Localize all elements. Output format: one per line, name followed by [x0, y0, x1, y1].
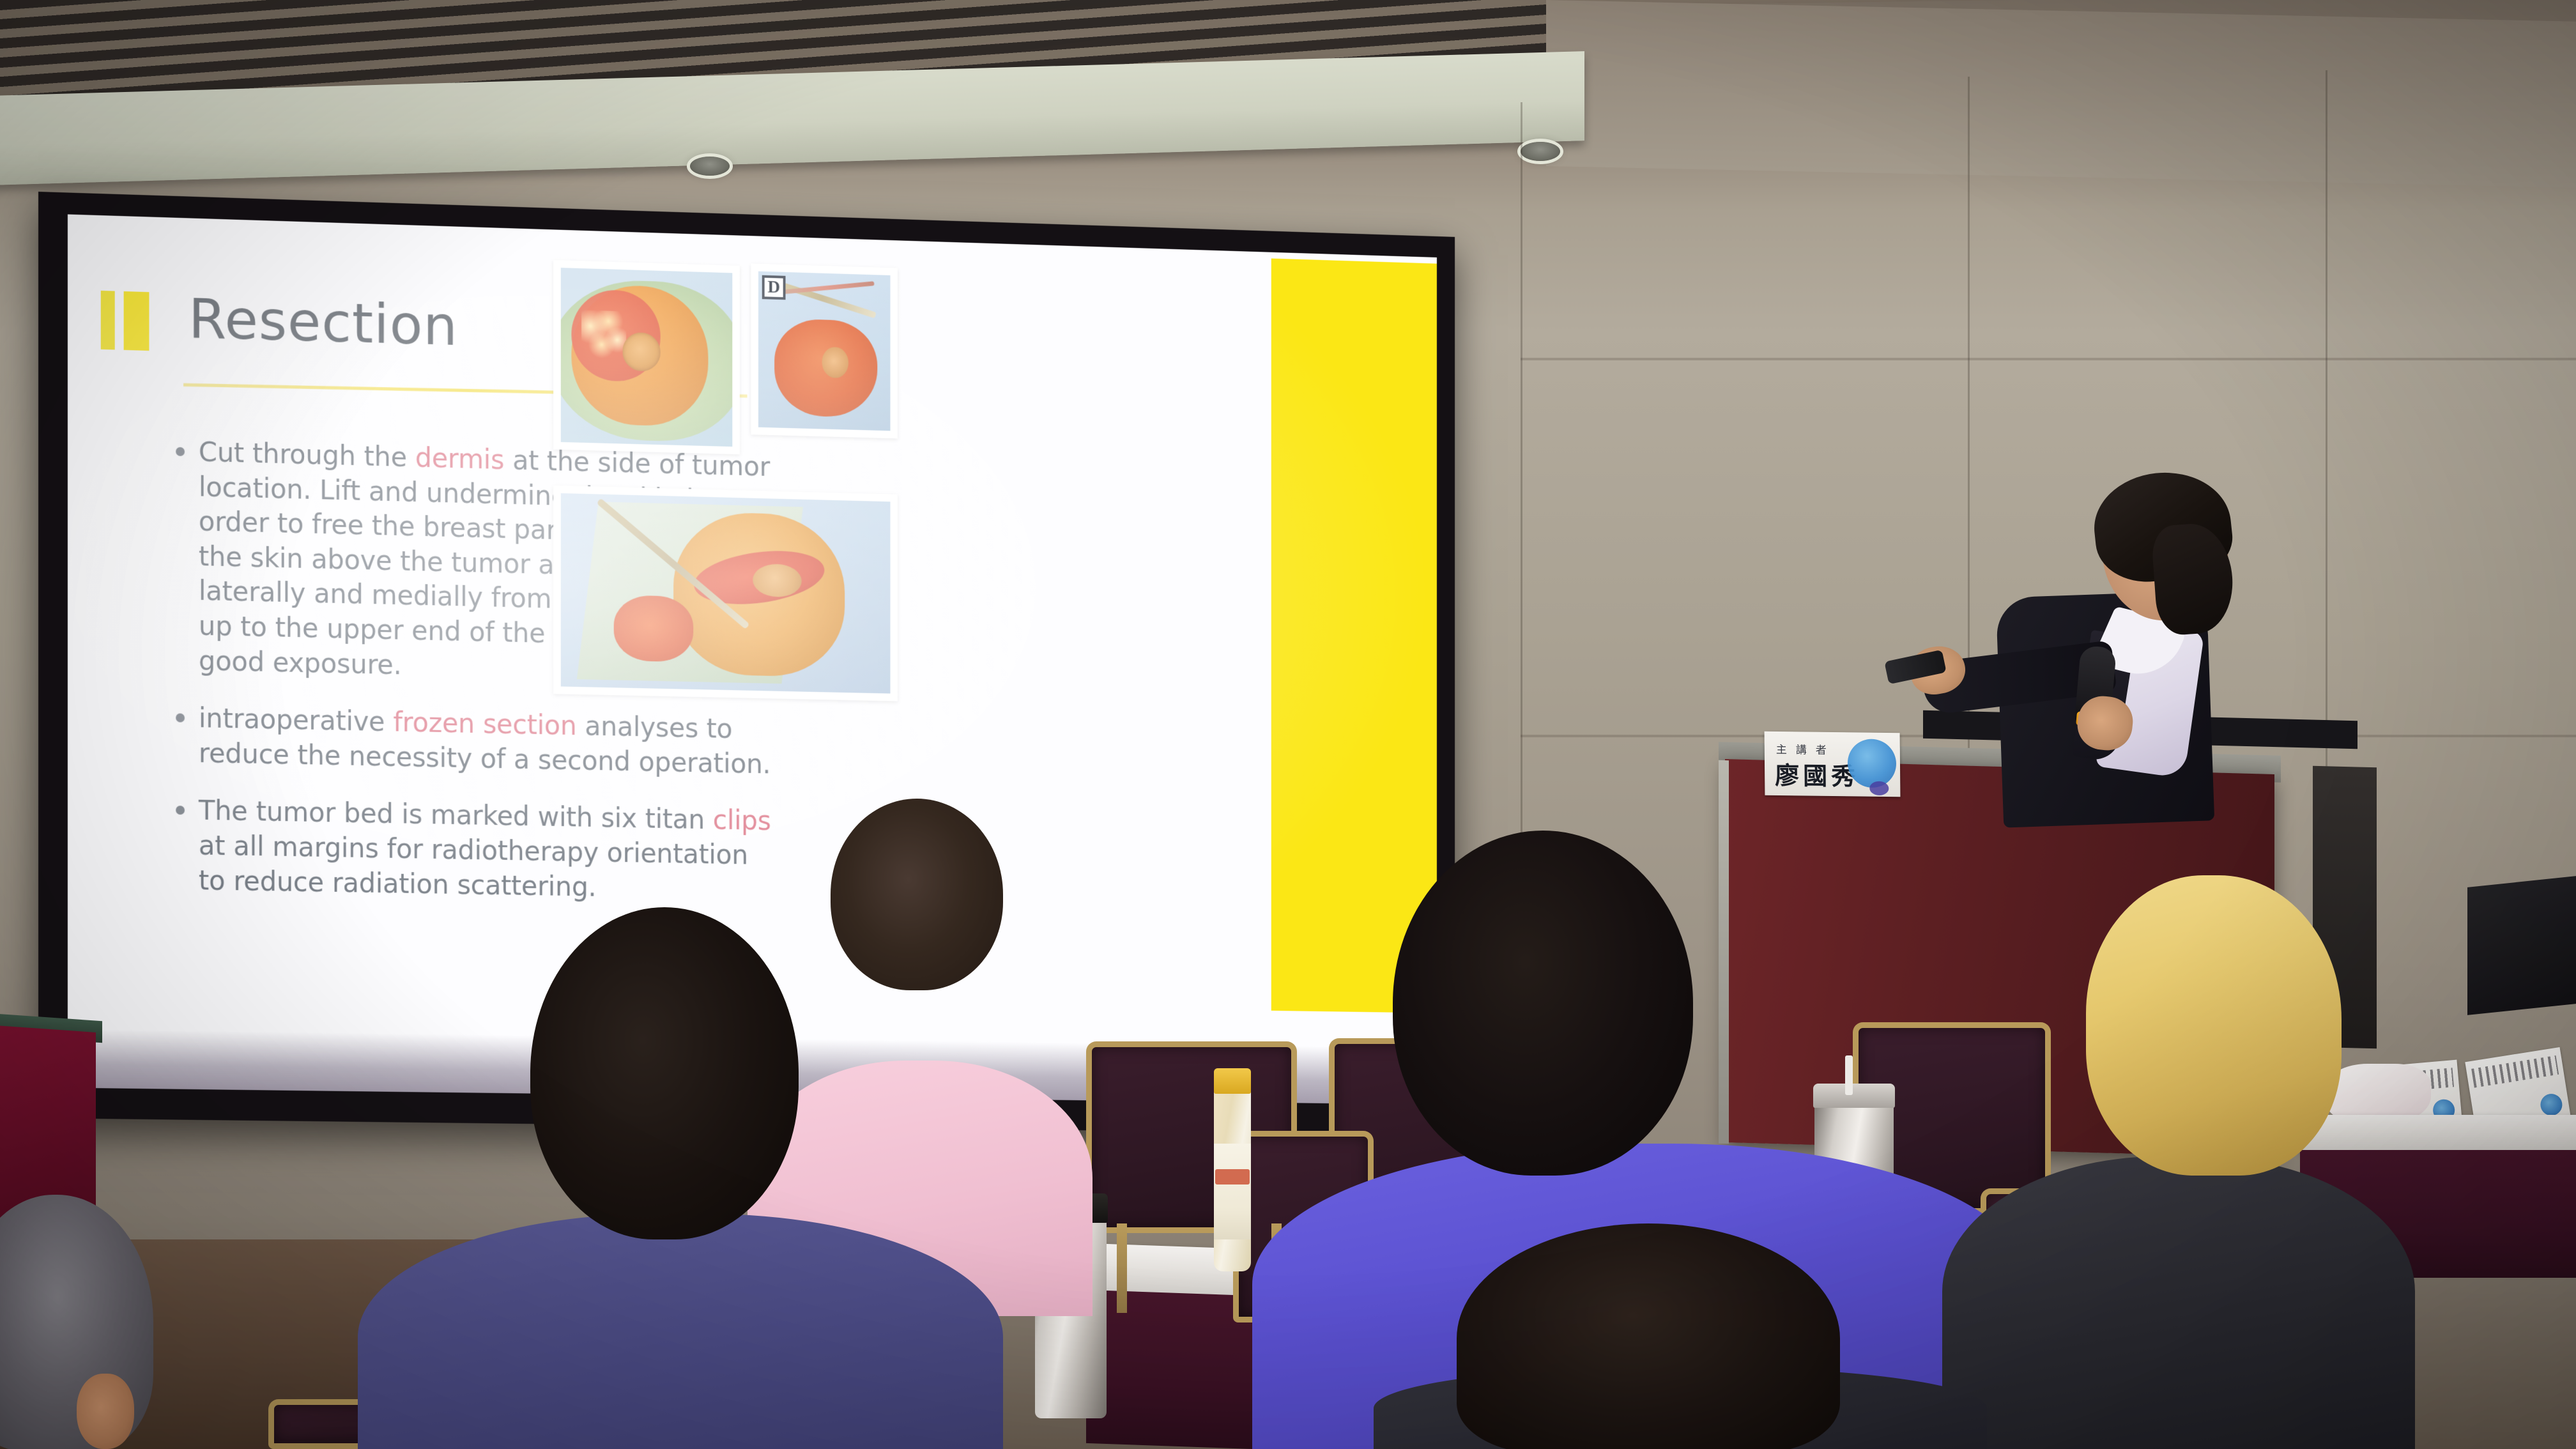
surgical-photo-bottom [553, 486, 898, 701]
paper-logo-icon [2539, 1092, 2564, 1117]
bullet-text: The tumor bed is marked with six titan c… [199, 793, 777, 907]
nameplate-role: 主講者 [1776, 740, 1836, 757]
organization-globe-logo-icon [1848, 739, 1897, 788]
drinking-straw [1845, 1055, 1853, 1095]
downlight-icon [1521, 142, 1560, 161]
podium-edge [1719, 760, 1729, 1144]
title-accent-bars [101, 291, 149, 351]
tissue-specks [581, 310, 626, 364]
panel-label-d: D [762, 275, 786, 300]
surgical-photo-d: D [751, 263, 898, 438]
display-monitor [2467, 876, 2576, 1015]
nipple-region [822, 346, 848, 378]
audience-shoulders [1942, 1156, 2415, 1449]
ceiling-panel-right [1546, 0, 2576, 188]
speaker-nameplate: 主講者 廖國秀 [1765, 732, 1901, 797]
wall-seam [2326, 70, 2327, 875]
audience-ear [77, 1374, 134, 1449]
bullet-text: intraoperative frozen section analyses t… [199, 701, 777, 781]
bullet-dot-icon [176, 714, 185, 723]
nipple-region [623, 332, 661, 372]
highlighted-term: dermis [415, 442, 505, 475]
bottle-label-stripe [1215, 1169, 1250, 1184]
audience-shoulders [358, 1214, 1003, 1449]
downlight-icon [690, 157, 730, 176]
audience-head [1457, 1223, 1840, 1449]
bullet-segment: at all margins for radiotherapy orientat… [199, 829, 748, 902]
chair-leg [1117, 1223, 1127, 1313]
logo-accent-icon [1869, 781, 1889, 795]
tumbler-lid [1813, 1084, 1895, 1108]
audience-head [1393, 831, 1693, 1176]
wall-horizontal-band [1521, 358, 2576, 360]
photo-content: D [758, 272, 891, 431]
highlighted-term: frozen section [393, 707, 576, 741]
gauze-region [614, 595, 693, 662]
paper-text-lines [2471, 1055, 2559, 1088]
highlighted-term: clips [713, 804, 771, 836]
audience-head [831, 799, 1003, 990]
accent-bar-narrow [101, 291, 115, 350]
photo-content [561, 493, 891, 694]
nameplate-name: 廖國秀 [1775, 756, 1859, 792]
audience-head [2086, 875, 2342, 1176]
presentation-photo-scene: Resection Cut through the dermis at the … [0, 0, 2576, 1449]
bullet-segment: intraoperative [199, 702, 393, 737]
accent-bar-wide [124, 291, 149, 351]
slide-title: Resection [188, 287, 458, 358]
side-table [2300, 1115, 2576, 1153]
bullet-dot-icon [176, 806, 185, 815]
bullet-segment: Cut through the [199, 436, 415, 473]
list-item: The tumor bed is marked with six titan c… [176, 793, 777, 907]
photo-content [561, 268, 732, 447]
bullet-dot-icon [176, 447, 185, 456]
bottle-cap [1214, 1068, 1251, 1094]
list-item: intraoperative frozen section analyses t… [176, 701, 777, 782]
bottle-label [1214, 1144, 1251, 1239]
surgical-photo-left [553, 260, 740, 454]
bullet-segment: The tumor bed is marked with six titan [199, 795, 713, 835]
audience-head [530, 907, 799, 1239]
